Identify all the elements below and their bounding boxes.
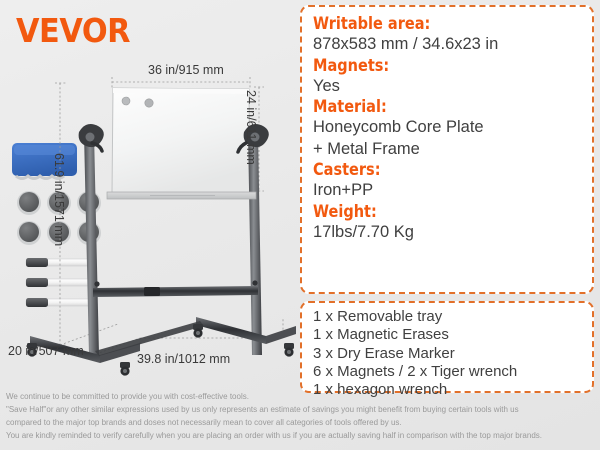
product-infographic: VEVOR — [0, 0, 600, 450]
dimension-total-height: 61.9 in/1571 mm — [52, 153, 66, 246]
caster — [120, 362, 130, 376]
disclaimer-line: We continue to be committed to provide y… — [6, 391, 594, 404]
disclaimer-text: We continue to be committed to provide y… — [6, 391, 594, 443]
dimension-base-depth: 20 in/507 mm — [8, 344, 84, 358]
spec-value-material-cont: + Metal Frame — [313, 139, 592, 159]
content-line: 3 x Dry Erase Marker — [313, 345, 592, 363]
content-line: 6 x Magnets / 2 x Tiger wrench — [313, 363, 592, 381]
spec-value-material: Honeycomb Core Plate — [313, 117, 592, 137]
spec-label-writable-area: Writable area: — [313, 14, 559, 34]
disclaimer-line: You are kindly reminded to verify carefu… — [6, 430, 594, 443]
cross-bar — [93, 280, 258, 297]
content-line: 1 x Removable tray — [313, 308, 592, 326]
spec-label-magnets: Magnets: — [313, 56, 559, 76]
spec-value-magnets: Yes — [313, 76, 592, 96]
board-magnet — [145, 99, 153, 107]
spec-value-weight: 17lbs/7.70 Kg — [313, 222, 592, 242]
removable-tray — [107, 192, 256, 199]
package-contents-box: 1 x Removable tray 1 x Magnetic Erases 3… — [300, 301, 594, 393]
whiteboard-panel — [112, 88, 250, 194]
dimension-board-width: 36 in/915 mm — [148, 63, 224, 77]
disclaimer-line: "Save Half"or any other similar expressi… — [6, 404, 594, 417]
spec-label-material: Material: — [313, 97, 559, 117]
accessory-eraser — [12, 143, 77, 179]
vevor-logo: VEVOR — [16, 14, 130, 47]
pivot-knob-left — [79, 124, 104, 151]
dimension-base-width: 39.8 in/1012 mm — [137, 352, 230, 366]
spec-label-casters: Casters: — [313, 160, 559, 180]
spec-label-weight: Weight: — [313, 202, 559, 222]
specifications-box: Writable area: 878x583 mm / 34.6x23 in M… — [300, 5, 594, 294]
spec-value-writable-area: 878x583 mm / 34.6x23 in — [313, 34, 592, 54]
disclaimer-line: compared to the major top brands and dos… — [6, 417, 594, 430]
caster — [284, 343, 294, 357]
spec-value-casters: Iron+PP — [313, 180, 592, 200]
board-magnet — [122, 97, 130, 105]
content-line: 1 x Magnetic Erases — [313, 326, 592, 344]
dimension-board-height: 24 in/611 mm — [244, 90, 258, 165]
caster — [193, 324, 203, 338]
